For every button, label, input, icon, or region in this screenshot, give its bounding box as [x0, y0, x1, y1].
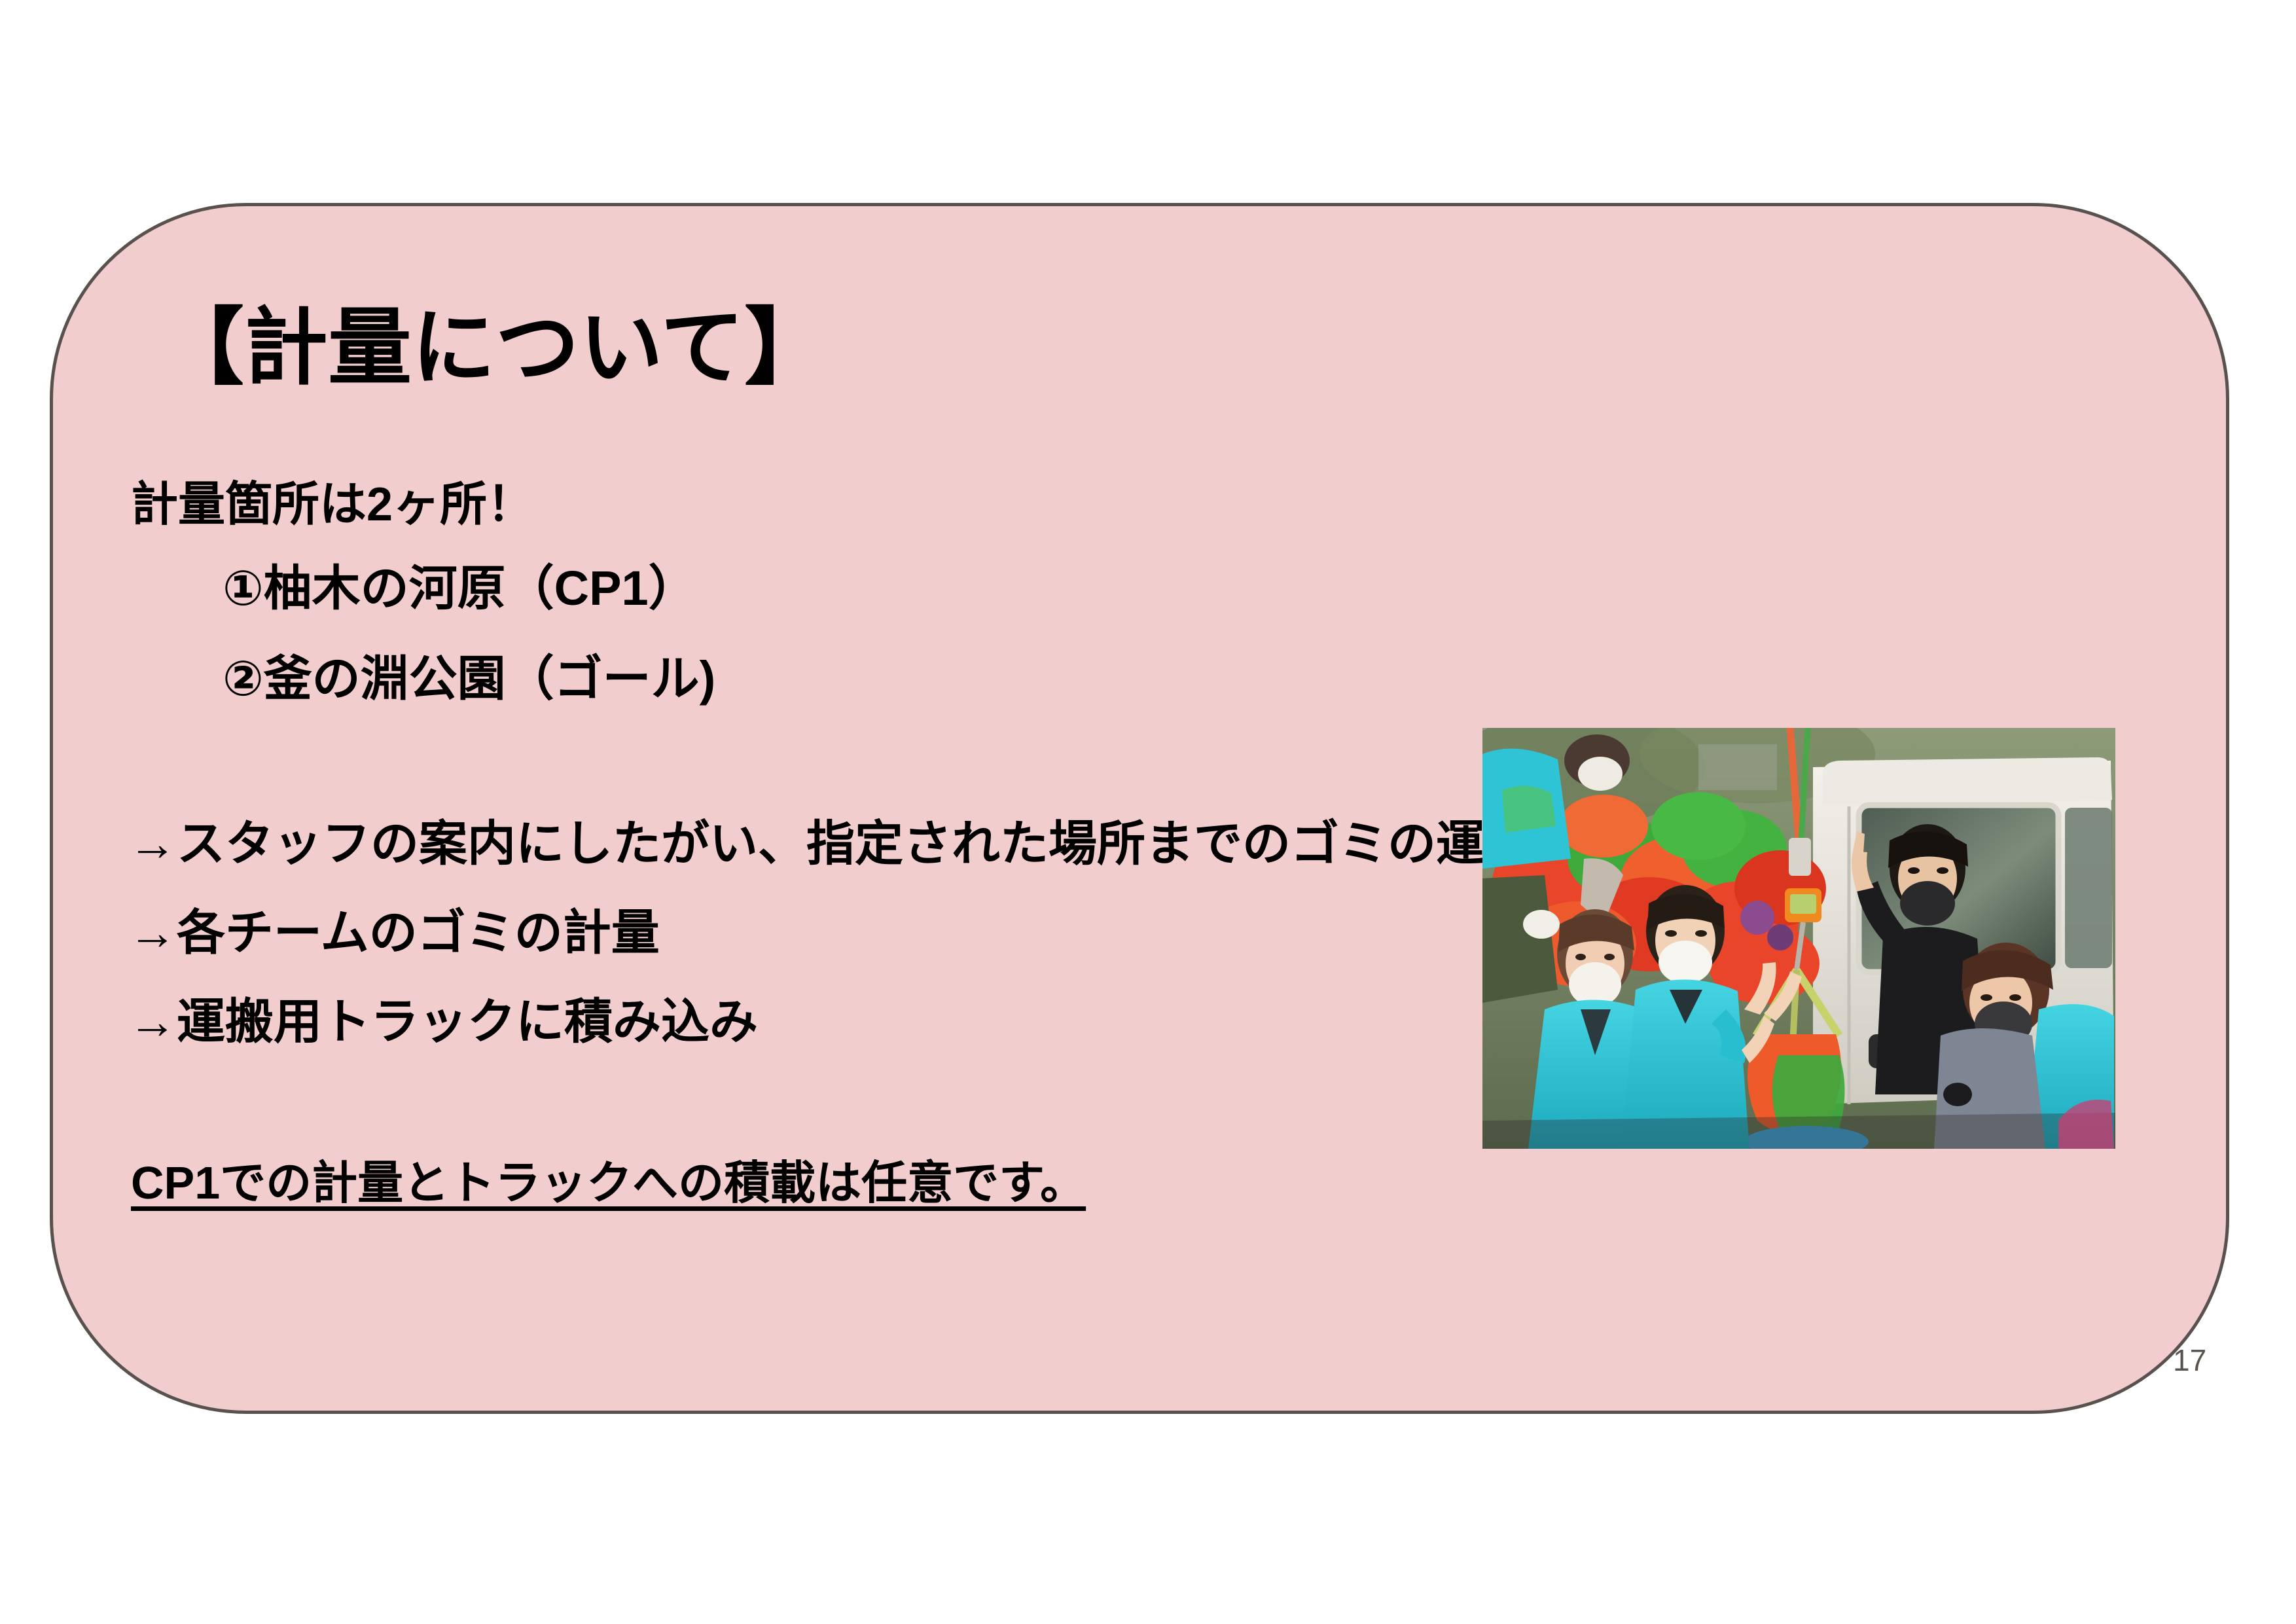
intro-text: 計量箇所は2ヶ所！: [131, 481, 534, 528]
slide-canvas: 【計量について】 計量箇所は2ヶ所！ ①柚木の河原（CP1） ②釜の淵公園（ゴー…: [0, 0, 2296, 1624]
note-text: CP1での計量とトラックへの積載は任意です。: [131, 1160, 1086, 1206]
step-text: →運搬用トラックに積み込み: [128, 998, 758, 1046]
step-text: →スタッフの案内にしたがい、指定された場所までのゴミの運搬: [128, 820, 1533, 868]
page-number: 17: [2173, 1345, 2206, 1375]
page-title: 【計量について】: [160, 304, 828, 392]
photo-illustration: [1482, 728, 2115, 1149]
list-item: ①柚木の河原（CP1）: [223, 564, 697, 613]
list-item: ②釜の淵公園（ゴール): [223, 655, 715, 703]
step-text: →各チームのゴミの計量: [128, 909, 660, 957]
photo-volunteers-weighing-trash: [1482, 728, 2115, 1149]
